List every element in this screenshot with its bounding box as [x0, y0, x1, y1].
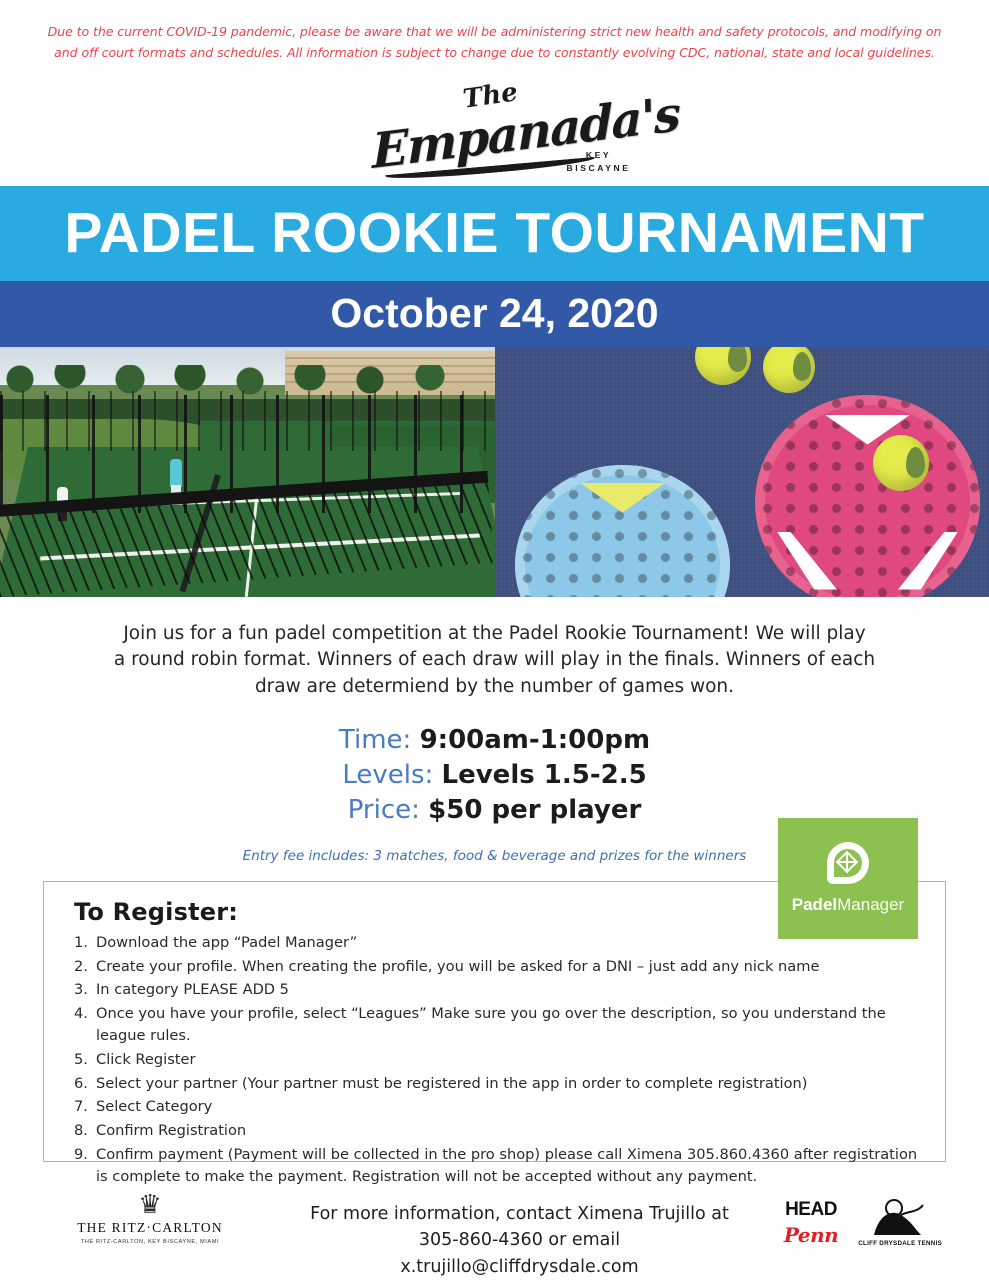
photo-row — [0, 347, 989, 597]
step-number: 8. — [62, 1120, 96, 1142]
date-banner: October 24, 2020 — [0, 281, 989, 347]
title-banner: PADEL ROOKIE TOURNAMENT — [0, 186, 989, 281]
contact-info: For more information, contact Ximena Tru… — [300, 1185, 739, 1280]
page-title: PADEL ROOKIE TOURNAMENT — [64, 200, 924, 266]
list-item: 6. Select your partner (Your partner mus… — [62, 1073, 945, 1095]
list-item: 2. Create your profile. When creating th… — [62, 956, 945, 978]
covid-notice: Due to the current COVID-19 pandemic, pl… — [0, 0, 989, 64]
padel-manager-mark-icon — [827, 842, 869, 888]
list-item: 5. Click Register — [62, 1049, 945, 1071]
player-figure-1 — [170, 459, 182, 489]
levels-label: Levels: — [342, 760, 433, 790]
step-text: Select your partner (Your partner must b… — [96, 1073, 945, 1095]
covid-notice-line-1: Due to the current COVID-19 pandemic, pl… — [45, 22, 944, 43]
event-description: Join us for a fun padel competition at t… — [90, 621, 900, 701]
step-number: 9. — [62, 1144, 96, 1188]
price-value: $50 per player — [428, 795, 641, 825]
contact-line-1: For more information, contact Ximena Tru… — [300, 1201, 739, 1227]
price-label: Price: — [348, 795, 420, 825]
list-item: 3. In category PLEASE ADD 5 — [62, 979, 945, 1001]
registration-steps: 1. Download the app “Padel Manager” 2. C… — [62, 932, 945, 1188]
cliff-drysdale-mark-icon — [856, 1199, 944, 1239]
step-text: Click Register — [96, 1049, 945, 1071]
flyer-page: Due to the current COVID-19 pandemic, pl… — [0, 0, 989, 1280]
sponsor-logos: HEAD Penn CLIFF DRYSDALE TENNIS — [739, 1185, 989, 1247]
time-label: Time: — [339, 725, 411, 755]
levels-value: Levels 1.5-2.5 — [442, 760, 647, 790]
head-penn-logo: HEAD Penn — [784, 1199, 838, 1247]
contact-line-2: 305-860-4360 or email x.trujillo@cliffdr… — [300, 1227, 739, 1280]
ritz-carlton-logo: ♛ THE RITZ·CARLTON THE RITZ-CARLTON, KEY… — [0, 1185, 300, 1245]
penn-wordmark: Penn — [784, 1223, 838, 1247]
tennis-ball-3 — [873, 435, 929, 491]
padel-manager-name-light: Manager — [837, 895, 904, 914]
step-number: 5. — [62, 1049, 96, 1071]
step-text: Confirm payment (Payment will be collect… — [96, 1144, 945, 1188]
step-number: 4. — [62, 1003, 96, 1047]
covid-notice-line-2: and off court formats and schedules. All… — [45, 43, 944, 64]
padel-manager-name-bold: Padel — [792, 895, 837, 914]
padel-rackets-photo — [495, 347, 989, 597]
step-number: 2. — [62, 956, 96, 978]
padel-manager-wordmark: PadelManager — [792, 895, 904, 915]
ritz-lion-icon: ♛ — [0, 1191, 300, 1217]
info-row-time: Time: 9:00am-1:00pm — [0, 723, 989, 758]
step-text: Once you have your profile, select “Leag… — [96, 1003, 945, 1047]
cliff-drysdale-logo: CLIFF DRYSDALE TENNIS — [856, 1199, 944, 1247]
logo-key-text: KEY — [567, 149, 631, 162]
ritz-carlton-name: THE RITZ·CARLTON — [0, 1220, 300, 1236]
logo-biscayne-text: BISCAYNE — [567, 162, 631, 175]
cliff-drysdale-wordmark: CLIFF DRYSDALE TENNIS — [856, 1240, 944, 1247]
footer: ♛ THE RITZ·CARLTON THE RITZ-CARLTON, KEY… — [0, 1185, 989, 1280]
logo-location-text: KEY BISCAYNE — [567, 149, 631, 175]
list-item: 7. Select Category — [62, 1096, 945, 1118]
description-line-1: Join us for a fun padel competition at t… — [90, 621, 900, 648]
padel-courts-photo — [0, 347, 495, 597]
step-text: In category PLEASE ADD 5 — [96, 979, 945, 1001]
list-item: 4. Once you have your profile, select “L… — [62, 1003, 945, 1047]
pink-racket — [755, 395, 980, 597]
event-date: October 24, 2020 — [330, 290, 658, 337]
ritz-carlton-location: THE RITZ-CARLTON, KEY BISCAYNE, MIAMI — [0, 1239, 300, 1245]
step-number: 3. — [62, 979, 96, 1001]
empanadas-logo: The Empanada's KEY BISCAYNE — [0, 78, 989, 186]
description-line-2: a round robin format. Winners of each dr… — [90, 647, 900, 674]
step-number: 7. — [62, 1096, 96, 1118]
list-item: 9. Confirm payment (Payment will be coll… — [62, 1144, 945, 1188]
step-number: 6. — [62, 1073, 96, 1095]
step-number: 1. — [62, 932, 96, 954]
info-row-levels: Levels: Levels 1.5-2.5 — [0, 758, 989, 793]
event-info-list: Time: 9:00am-1:00pm Levels: Levels 1.5-2… — [0, 723, 989, 827]
step-text: Confirm Registration — [96, 1120, 945, 1142]
padel-manager-logo: PadelManager — [778, 818, 918, 939]
step-text: Create your profile. When creating the p… — [96, 956, 945, 978]
description-line-3: draw are determiend by the number of gam… — [90, 674, 900, 701]
time-value: 9:00am-1:00pm — [420, 725, 650, 755]
head-wordmark: HEAD — [784, 1199, 838, 1221]
step-text: Select Category — [96, 1096, 945, 1118]
list-item: 8. Confirm Registration — [62, 1120, 945, 1142]
